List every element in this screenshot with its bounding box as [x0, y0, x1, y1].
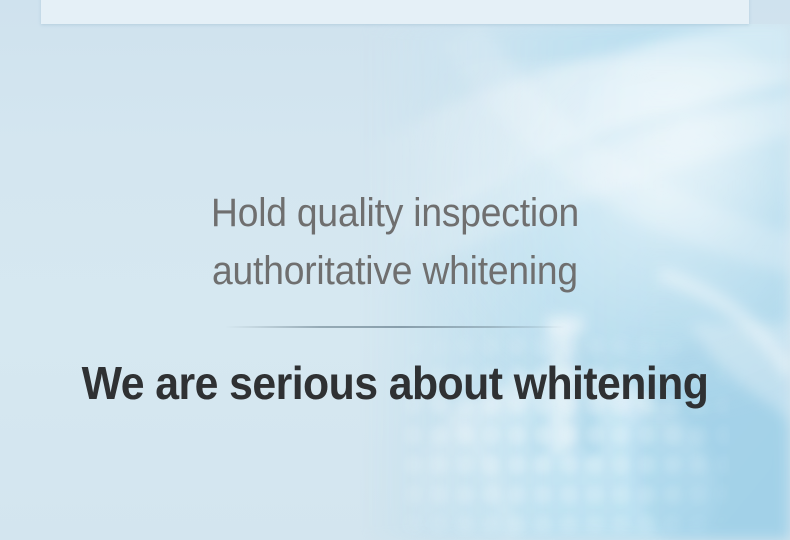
- banner-content: Hold quality inspection authoritative wh…: [0, 0, 790, 540]
- subheading-line-2: authoritative whitening: [28, 242, 763, 300]
- subheading-line-1: Hold quality inspection: [28, 184, 763, 242]
- page-title: We are serious about whitening: [28, 352, 763, 414]
- divider-rule: [225, 326, 565, 328]
- promo-banner: Hold quality inspection authoritative wh…: [0, 0, 790, 540]
